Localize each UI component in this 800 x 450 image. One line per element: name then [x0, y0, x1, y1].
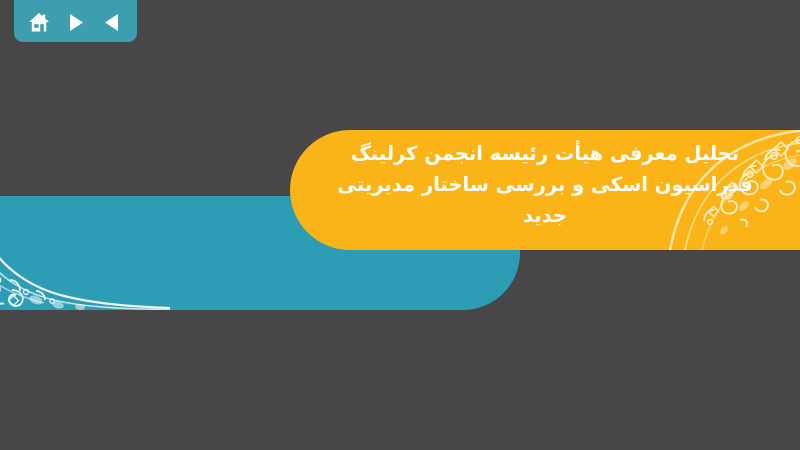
presentation-navigation	[14, 0, 137, 42]
triangle-right-icon	[67, 13, 85, 32]
teal-arabesque-ornament-icon	[0, 196, 170, 310]
previous-slide-button[interactable]	[98, 9, 126, 35]
slide-title: تحلیل معرفی هیأت رئیسه انجمن کرلینگ فدرا…	[300, 138, 790, 231]
title-line-3: جدید	[300, 200, 790, 231]
title-line-2: فدراسیون اسکی و بررسی ساختار مدیریتی	[300, 169, 790, 200]
next-slide-button[interactable]	[62, 9, 90, 35]
slide-canvas: تحلیل معرفی هیأت رئیسه انجمن کرلینگ فدرا…	[0, 0, 800, 450]
title-line-1: تحلیل معرفی هیأت رئیسه انجمن کرلینگ	[300, 138, 790, 169]
triangle-left-icon	[103, 13, 121, 32]
home-button[interactable]	[25, 9, 53, 35]
home-icon	[28, 12, 50, 33]
